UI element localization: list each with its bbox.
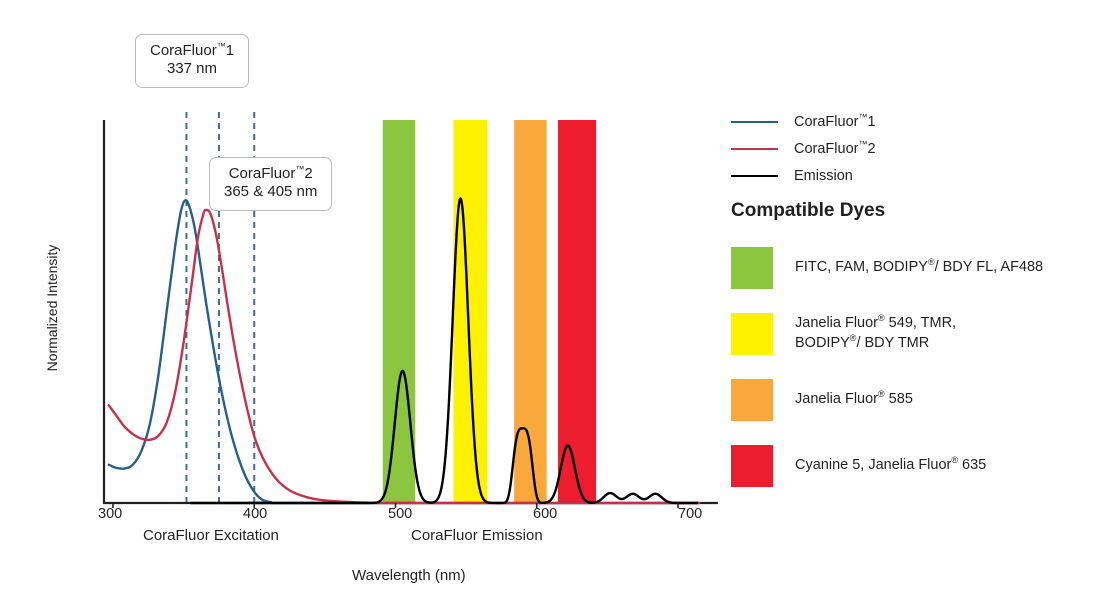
x-tick-300: 300 — [98, 506, 122, 522]
legend-label-base: Emission — [794, 168, 853, 184]
legend-line-swatch — [731, 175, 778, 177]
dye-list-item: Janelia Fluor® 585 — [731, 367, 1110, 433]
series-legend: CoraFluor™1CoraFluor™2Emission — [731, 108, 1110, 189]
legend-label-index: 2 — [867, 141, 875, 157]
dye-color-swatch — [731, 313, 773, 355]
legend-label-base: CoraFluor — [794, 141, 858, 157]
legend-item-label: CoraFluor™1 — [794, 114, 876, 130]
dye-label-text: Janelia Fluor — [795, 391, 878, 407]
x-axis-label: Wavelength (nm) — [352, 567, 466, 584]
dye-label-text: FITC, FAM, BODIPY — [795, 259, 928, 275]
dye-label-line2: BODIPY®/ BDY TMR — [795, 334, 956, 354]
dye-label-text: / BDY TMR — [856, 335, 929, 351]
x-tick-700: 700 — [678, 506, 702, 522]
callout-1-value: 337 nm — [150, 60, 234, 78]
yellow-band — [453, 120, 487, 503]
registered-symbol: ® — [878, 314, 885, 324]
callout-corafluor-1: CoraFluor™1 337 nm — [135, 34, 249, 88]
callout-2-index: 2 — [304, 165, 312, 182]
dye-list-item: FITC, FAM, BODIPY®/ BDY FL, AF488 — [731, 235, 1110, 301]
callout-2-title: CoraFluor™2 — [224, 165, 317, 183]
compatible-dyes-heading: Compatible Dyes — [731, 200, 885, 222]
legend-label-base: CoraFluor — [794, 114, 858, 130]
dye-label: FITC, FAM, BODIPY®/ BDY FL, AF488 — [795, 258, 1043, 278]
red-band — [558, 120, 596, 503]
dye-color-swatch — [731, 247, 773, 289]
dye-label-line1: Janelia Fluor® 549, TMR, — [795, 314, 956, 334]
dye-label-text: 585 — [885, 391, 913, 407]
x-region-label-emission: CoraFluor Emission — [411, 527, 543, 544]
legend-line-swatch — [731, 148, 778, 150]
trademark-symbol: ™ — [217, 41, 226, 51]
dye-color-swatch — [731, 379, 773, 421]
dye-list-item: Cyanine 5, Janelia Fluor® 635 — [731, 433, 1110, 499]
chart-plot-area: CoraFluor™1 337 nm CoraFluor™2 365 & 405… — [0, 0, 730, 612]
callout-1-title: CoraFluor™1 — [150, 42, 234, 60]
dye-label: Janelia Fluor® 585 — [795, 390, 913, 410]
registered-symbol: ® — [928, 257, 935, 267]
dye-label-line1: Cyanine 5, Janelia Fluor® 635 — [795, 456, 986, 476]
legend-label-index: 1 — [867, 114, 875, 130]
legend-item: CoraFluor™1 — [731, 108, 1110, 135]
curve-emission — [191, 199, 697, 503]
green-band — [383, 120, 415, 503]
x-tick-600: 600 — [533, 506, 557, 522]
x-tick-500: 500 — [388, 506, 412, 522]
callout-1-name: CoraFluor — [150, 42, 217, 59]
x-tick-400: 400 — [243, 506, 267, 522]
dye-list-item: Janelia Fluor® 549, TMR,BODIPY®/ BDY TMR — [731, 301, 1110, 367]
registered-symbol: ® — [878, 389, 885, 399]
dye-label-text: BODIPY — [795, 335, 850, 351]
dye-label: Cyanine 5, Janelia Fluor® 635 — [795, 456, 986, 476]
dye-label-text: Janelia Fluor — [795, 315, 878, 331]
spectra-figure: CoraFluor™1 337 nm CoraFluor™2 365 & 405… — [0, 0, 1110, 612]
callout-2-name: CoraFluor — [229, 165, 296, 182]
dye-label-text: 549, TMR, — [885, 315, 956, 331]
legend-item: Emission — [731, 162, 1110, 189]
callout-2-value: 365 & 405 nm — [224, 183, 317, 201]
callout-1-index: 1 — [226, 42, 234, 59]
dye-label-line1: Janelia Fluor® 585 — [795, 390, 913, 410]
dye-label: Janelia Fluor® 549, TMR,BODIPY®/ BDY TMR — [795, 314, 956, 353]
legend-item: CoraFluor™2 — [731, 135, 1110, 162]
dye-label-text: Cyanine 5, Janelia Fluor — [795, 457, 951, 473]
legend-item-label: Emission — [794, 168, 853, 184]
legend-line-swatch — [731, 121, 778, 123]
dye-label-line1: FITC, FAM, BODIPY®/ BDY FL, AF488 — [795, 258, 1043, 278]
y-axis-label: Normalized Intensity — [44, 218, 60, 398]
dye-label-text: / BDY FL, AF488 — [935, 259, 1044, 275]
x-region-label-excitation: CoraFluor Excitation — [143, 527, 279, 544]
compatible-dyes-list: FITC, FAM, BODIPY®/ BDY FL, AF488Janelia… — [731, 235, 1110, 499]
dye-label-text: 635 — [958, 457, 986, 473]
legend-item-label: CoraFluor™2 — [794, 141, 876, 157]
dye-color-swatch — [731, 445, 773, 487]
callout-corafluor-2: CoraFluor™2 365 & 405 nm — [209, 157, 332, 211]
